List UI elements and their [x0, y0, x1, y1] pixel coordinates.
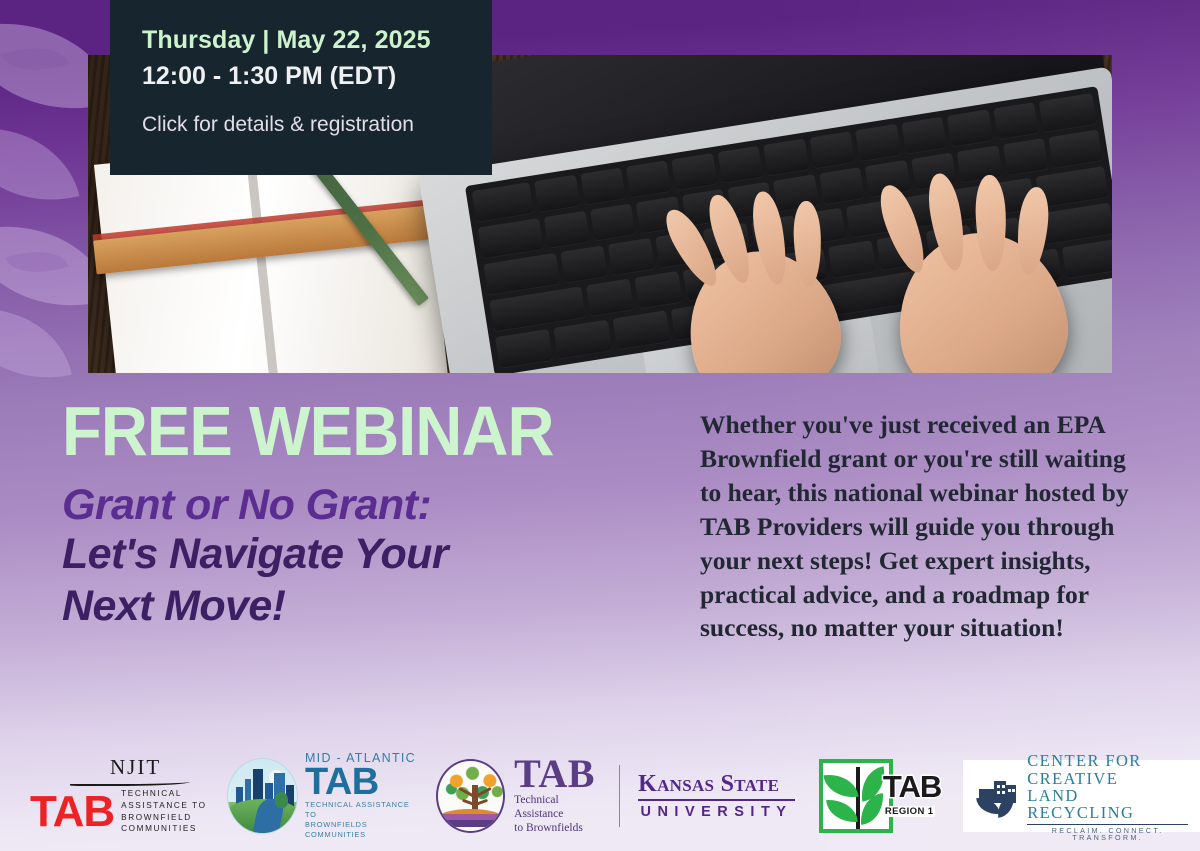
webinar-title-line1: Grant or No Grant: [62, 481, 662, 529]
logo-tab-brownfields[interactable]: TAB Technical Assistance to Brownfields [436, 756, 603, 835]
njit-wordmark: NJIT [62, 757, 209, 778]
logo-njit-tab[interactable]: NJIT TAB TECHNICAL ASSISTANCE TO BROWNFI… [30, 757, 209, 835]
mid-atlantic-acronym: TAB [305, 765, 422, 800]
event-date-banner[interactable]: Thursday | May 22, 2025 12:00 - 1:30 PM … [110, 0, 492, 175]
logo-divider [619, 765, 620, 827]
logo-tab-region1[interactable]: TAB REGION 1 [819, 759, 941, 833]
njit-tab-acronym: TAB [30, 793, 114, 830]
webinar-title-line2: Let's Navigate Your [62, 529, 662, 581]
ksu-name: Kansas State [638, 772, 795, 796]
cclr-line1: CENTER FOR CREATIVE [1027, 752, 1188, 786]
plant-icon [819, 759, 893, 833]
webinar-description: Whether you've just received an EPA Brow… [700, 408, 1132, 645]
tree-icon [436, 759, 505, 833]
registration-cta[interactable]: Click for details & registration [142, 113, 492, 137]
tab-tree-acronym: TAB [514, 756, 603, 792]
ksu-university: UNIVERSITY [638, 805, 795, 820]
city-skyline-icon [227, 758, 298, 834]
mid-atlantic-descriptor: TECHNICAL ASSISTANCE TO BROWNFIELDS COMM… [305, 800, 422, 840]
tab-tree-descriptor: Technical Assistance to Brownfields [514, 794, 603, 835]
njit-descriptor: TECHNICAL ASSISTANCE TO BROWNFIELD COMMU… [121, 788, 206, 835]
building-leaf-icon [975, 777, 1019, 817]
njit-swoosh [70, 779, 190, 786]
cclr-tagline: RECLAIM. CONNECT. TRANSFORM. [1027, 827, 1188, 841]
region1-label: REGION 1 [883, 806, 936, 817]
logo-cclr[interactable]: CENTER FOR CREATIVE LAND RECYCLING RECLA… [963, 760, 1200, 832]
cclr-line2: LAND RECYCLING [1027, 787, 1188, 821]
event-time: 12:00 - 1:30 PM (EDT) [142, 62, 492, 91]
event-date: Thursday | May 22, 2025 [142, 26, 492, 55]
webinar-title-line3: Next Move! [62, 581, 662, 633]
region1-acronym: TAB [883, 773, 941, 801]
free-webinar-kicker: FREE WEBINAR [62, 398, 620, 465]
partner-logo-strip: NJIT TAB TECHNICAL ASSISTANCE TO BROWNFI… [0, 741, 1200, 851]
logo-mid-atlantic-tab[interactable]: MID - ATLANTIC TAB TECHNICAL ASSISTANCE … [227, 752, 422, 839]
headline-block: FREE WEBINAR Grant or No Grant: Let's Na… [62, 398, 662, 633]
logo-kansas-state[interactable]: Kansas State UNIVERSITY [638, 772, 795, 820]
